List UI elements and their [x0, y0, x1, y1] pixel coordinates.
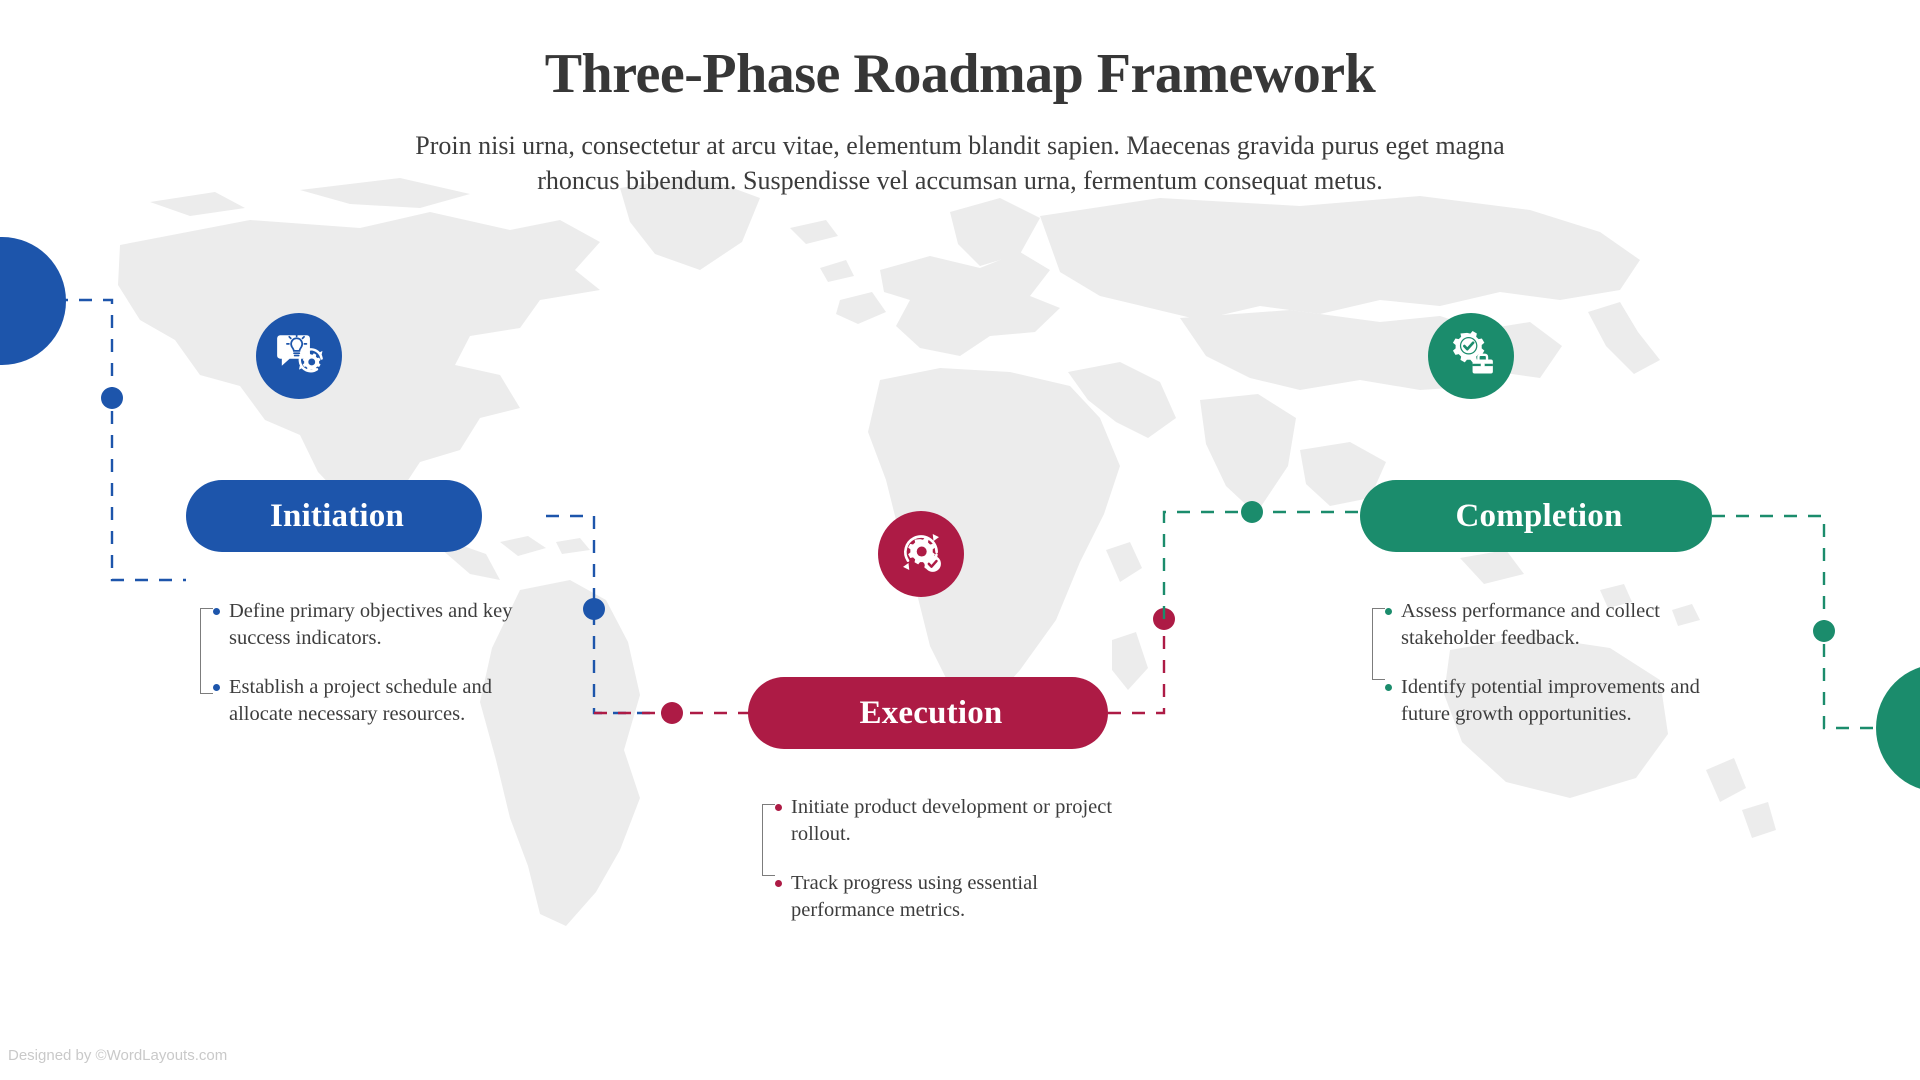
green-inbound-path [1164, 512, 1360, 619]
blue-path-dot [101, 387, 123, 409]
phase-initiation-pill[interactable]: Initiation [186, 480, 482, 552]
gear-check-briefcase-icon [1446, 329, 1496, 384]
bullet-dot [1385, 608, 1392, 615]
phase-execution-bracket [762, 804, 775, 876]
phase-execution-pill[interactable]: Execution [748, 677, 1108, 749]
list-item: Track progress using essential performan… [775, 870, 1115, 924]
phase-completion-icon-circle[interactable] [1428, 313, 1514, 399]
blue-to-execution-path [546, 516, 672, 713]
page-subtitle: Proin nisi urna, consectetur at arcu vit… [410, 128, 1510, 198]
bullet-dot [775, 880, 782, 887]
bullet-text: Track progress using essential performan… [791, 870, 1115, 924]
phase-completion-label: Completion [1360, 498, 1712, 535]
bullet-text: Identify potential improvements and futu… [1401, 674, 1720, 728]
phase-initiation-bracket [200, 608, 213, 694]
blue-to-execution-dot [583, 598, 605, 620]
list-item: Define primary objectives and key succes… [213, 598, 518, 652]
bullet-dot [775, 804, 782, 811]
list-item: Initiate product development or project … [775, 794, 1115, 848]
phase-completion-pill[interactable]: Completion [1360, 480, 1712, 552]
phase-execution-bullets: Initiate product development or project … [775, 794, 1115, 924]
phase-initiation-label: Initiation [186, 498, 482, 535]
footer-credit: Designed by ©WordLayouts.com [8, 1047, 227, 1064]
list-item: Identify potential improvements and futu… [1385, 674, 1720, 728]
list-item: Establish a project schedule and allocat… [213, 674, 518, 728]
bullet-text: Assess performance and collect stakehold… [1401, 598, 1720, 652]
crimson-outbound-path [1108, 620, 1164, 713]
bullet-text: Establish a project schedule and allocat… [229, 674, 518, 728]
left-edge-circle [0, 237, 66, 365]
phase-execution-label: Execution [748, 695, 1108, 732]
bullet-dot [213, 608, 220, 615]
infographic-canvas: Three-Phase Roadmap Framework Proin nisi… [0, 0, 1920, 1080]
phase-initiation-icon-circle[interactable] [256, 313, 342, 399]
phase-execution-icon-circle[interactable] [878, 511, 964, 597]
phase-completion-bracket [1372, 608, 1385, 680]
lightbulb-gear-icon [274, 329, 324, 384]
list-item: Assess performance and collect stakehold… [1385, 598, 1720, 652]
phase-initiation-bullets: Define primary objectives and key succes… [213, 598, 518, 728]
crimson-outbound-dot [1153, 608, 1175, 630]
crimson-inbound-dot [661, 702, 683, 724]
green-outbound-dot [1813, 620, 1835, 642]
right-edge-circle [1876, 664, 1920, 792]
header: Three-Phase Roadmap Framework Proin nisi… [0, 0, 1920, 198]
phase-completion-bullets: Assess performance and collect stakehold… [1385, 598, 1720, 728]
green-outbound-path [1712, 516, 1884, 728]
blue-dashed-path [55, 300, 186, 580]
bullet-dot [1385, 684, 1392, 691]
bullet-text: Initiate product development or project … [791, 794, 1115, 848]
bullet-dot [213, 684, 220, 691]
green-inbound-dot [1241, 501, 1263, 523]
gear-refresh-check-icon [896, 527, 946, 582]
bullet-text: Define primary objectives and key succes… [229, 598, 518, 652]
page-title: Three-Phase Roadmap Framework [0, 44, 1920, 106]
